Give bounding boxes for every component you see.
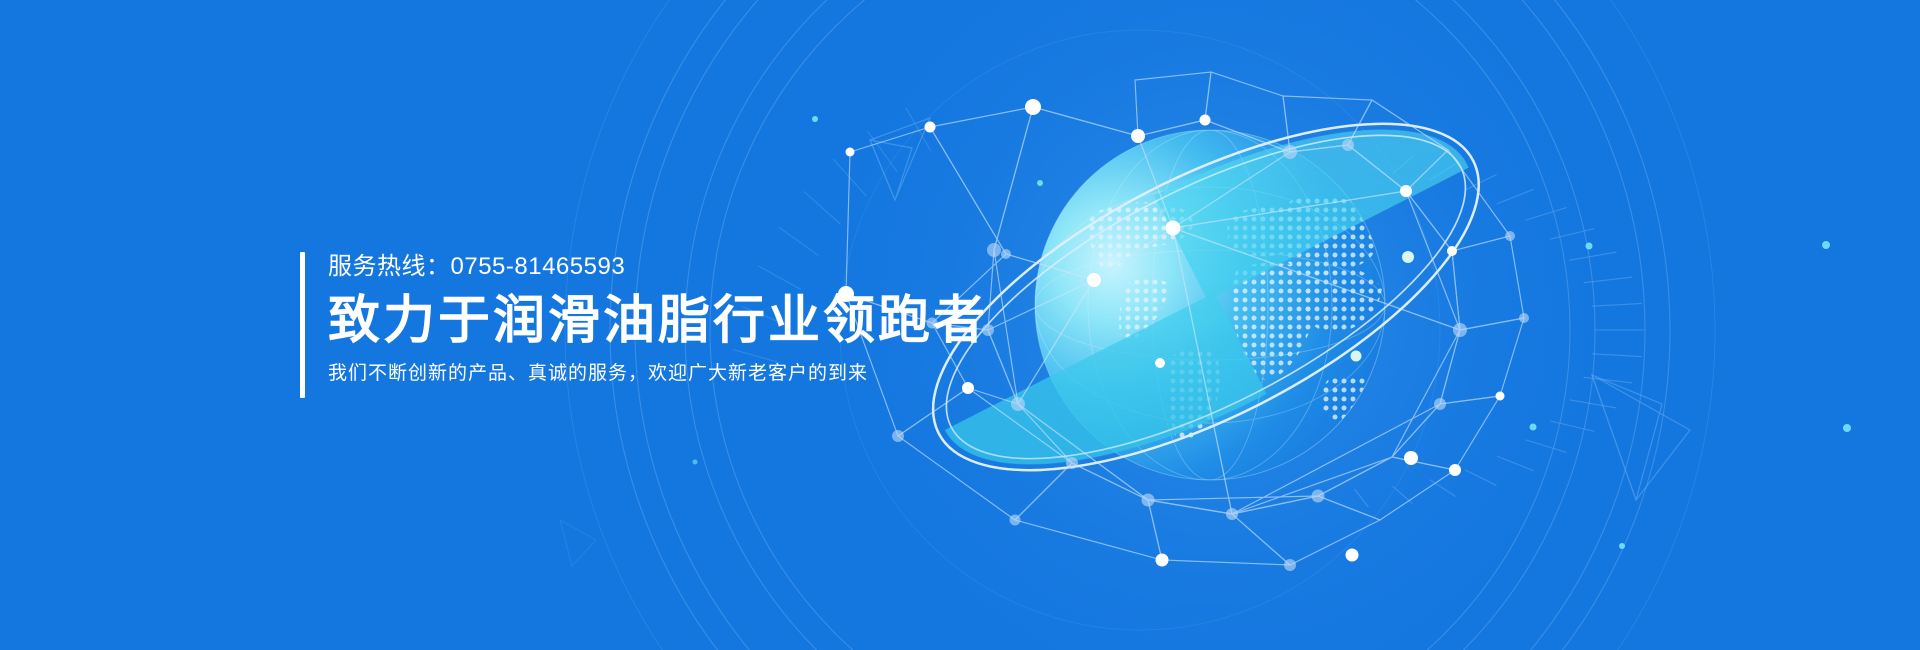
globe [1035, 130, 1385, 480]
page-title: 致力于润滑油脂行业领跑者 [328, 290, 988, 352]
radar-ticks [1354, 157, 1645, 508]
hero-banner: 服务热线：0755-81465593 致力于润滑油脂行业领跑者 我们不断创新的产… [0, 0, 1920, 650]
network-nodes-accent [1351, 251, 1415, 362]
service-hotline: 服务热线：0755-81465593 [328, 252, 988, 282]
page-subtitle: 我们不断创新的产品、真诚的服务，欢迎广大新老客户的到来 [328, 361, 988, 387]
accent-bar [300, 252, 305, 398]
hero-text-block: 服务热线：0755-81465593 致力于润滑油脂行业领跑者 我们不断创新的产… [300, 252, 988, 398]
